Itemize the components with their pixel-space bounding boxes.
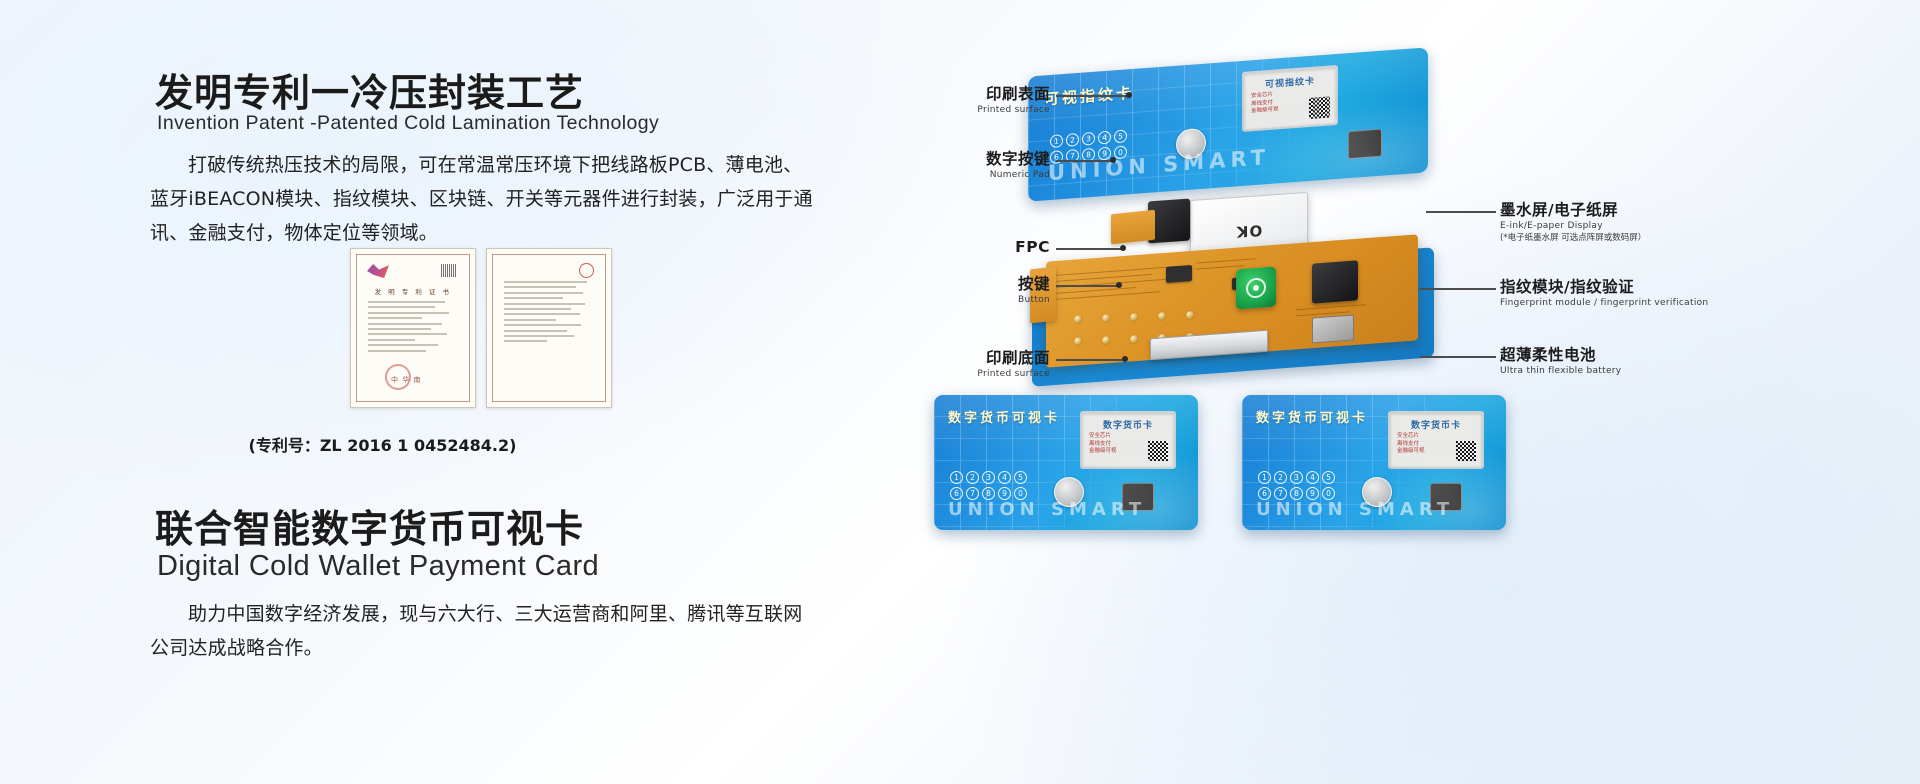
section-2-title-cn: 联合智能数字货币可视卡 bbox=[155, 498, 584, 553]
label-button: 按键 Button bbox=[946, 272, 1050, 305]
leader-line-eink-display bbox=[1426, 211, 1496, 213]
anchor-dot-button bbox=[1116, 282, 1122, 288]
dcl-key-3[interactable]: 3 bbox=[982, 471, 995, 484]
dcl-line-1: 安全芯片 bbox=[1089, 433, 1117, 441]
secure-element-chip bbox=[1312, 314, 1354, 343]
label-fingerprint-module-cn: 指纹模块/指纹验证 bbox=[1500, 275, 1708, 297]
qr-code-icon bbox=[1309, 97, 1330, 120]
certificate-back-text-lines bbox=[504, 281, 594, 346]
leader-line-fingerprint-module bbox=[1420, 288, 1496, 290]
key-3[interactable]: 3 bbox=[1082, 132, 1095, 146]
label-printed-surface-bottom-en: Printed surface bbox=[924, 369, 1050, 379]
dcl-key-0[interactable]: 0 bbox=[1014, 487, 1027, 500]
label-fpc-cn: FPC bbox=[946, 238, 1050, 256]
label-printed-surface-bottom: 印刷底面 Printed surface bbox=[924, 346, 1050, 379]
dcl-key-2[interactable]: 2 bbox=[966, 471, 979, 484]
label-printed-surface-bottom-cn: 印刷底面 bbox=[924, 346, 1050, 368]
dcr-key-8[interactable]: 8 bbox=[1290, 487, 1303, 500]
card-ok-button[interactable] bbox=[1176, 128, 1206, 160]
label-flexible-battery: 超薄柔性电池 Ultra thin flexible battery bbox=[1500, 343, 1621, 376]
dcl-key-6[interactable]: 6 bbox=[950, 487, 963, 500]
certificate-title: 发 明 专 利 证 书 bbox=[357, 286, 469, 296]
label-numeric-pad: 数字按键 Numeric Pad bbox=[940, 147, 1050, 180]
card-brand-bottom: UNION SMART bbox=[1048, 145, 1270, 185]
digital-card-right-brand-bottom: UNION SMART bbox=[1256, 499, 1454, 520]
key-4[interactable]: 4 bbox=[1098, 131, 1111, 145]
key-1[interactable]: 1 bbox=[1050, 134, 1063, 148]
label-fingerprint-module: 指纹模块/指纹验证 Fingerprint module / fingerpri… bbox=[1500, 275, 1708, 308]
digital-card-left: 数字货币可视卡 数字货币卡 安全芯片 离线支付 金融级可视 1 2 3 4 5 … bbox=[934, 395, 1198, 530]
digital-card-left-keypad: 1 2 3 4 5 6 7 8 9 0 bbox=[950, 471, 1027, 500]
eink-module-text: OK bbox=[1236, 221, 1262, 241]
section-2-body: 助力中国数字经济发展，现与六大行、三大运营商和阿里、腾讯等互联网公司达成战略合作… bbox=[150, 597, 815, 665]
label-numeric-pad-cn: 数字按键 bbox=[940, 147, 1050, 169]
screen-line-1: 安全芯片 bbox=[1251, 91, 1279, 101]
dcr-key-5[interactable]: 5 bbox=[1322, 471, 1335, 484]
dcl-key-7[interactable]: 7 bbox=[966, 487, 979, 500]
dcr-line-1: 安全芯片 bbox=[1397, 433, 1425, 441]
dcr-key-1[interactable]: 1 bbox=[1258, 471, 1271, 484]
certificate-back-border bbox=[492, 254, 606, 402]
certificate-front-border: 发 明 专 利 证 书 中 华 南 bbox=[356, 254, 470, 402]
card-fingerprint-sensor[interactable] bbox=[1348, 129, 1382, 159]
barcode-icon bbox=[441, 264, 457, 277]
dcr-line-2: 离线支付 bbox=[1397, 441, 1425, 449]
leader-line-flexible-battery bbox=[1420, 356, 1496, 358]
dcr-key-9[interactable]: 9 bbox=[1306, 487, 1319, 500]
certificate-stamp-text: 中 华 南 bbox=[391, 375, 421, 385]
anchor-dot-printed-surface-bottom bbox=[1122, 356, 1128, 362]
section-1-title-cn: 发明专利一冷压封装工艺 bbox=[155, 62, 584, 117]
digital-card-left-screen-lines: 安全芯片 离线支付 金融级可视 bbox=[1089, 433, 1117, 456]
dcl-key-5[interactable]: 5 bbox=[1014, 471, 1027, 484]
anchor-dot-fpc bbox=[1120, 245, 1126, 251]
dcl-key-4[interactable]: 4 bbox=[998, 471, 1011, 484]
fingerprint-module-chip bbox=[1312, 260, 1358, 303]
label-eink-display-cn: 墨水屏/电子纸屏 bbox=[1500, 198, 1646, 220]
leader-line-fpc bbox=[1056, 248, 1122, 250]
card-eink-screen: 可视指纹卡 安全芯片 离线支付 金融级可视 bbox=[1242, 65, 1338, 132]
patent-office-logo-icon bbox=[367, 264, 389, 278]
leader-line-printed-surface-bottom bbox=[1056, 359, 1124, 361]
digital-card-right-screen-lines: 安全芯片 离线支付 金融级可视 bbox=[1397, 433, 1425, 456]
eink-fpc-connector bbox=[1111, 210, 1155, 245]
patent-number: (专利号：ZL 2016 1 0452484.2) bbox=[150, 432, 615, 456]
digital-card-left-ok-button[interactable] bbox=[1054, 477, 1084, 507]
screen-brand-text: 可视指纹卡 bbox=[1244, 72, 1336, 92]
leader-line-button bbox=[1056, 285, 1118, 287]
key-0[interactable]: 0 bbox=[1114, 145, 1127, 159]
circuit-pattern-decoration-right bbox=[1242, 395, 1506, 530]
label-button-cn: 按键 bbox=[946, 272, 1050, 294]
label-printed-surface-top-en: Printed surface bbox=[940, 105, 1050, 115]
section-2-title-en: Digital Cold Wallet Payment Card bbox=[157, 550, 599, 583]
label-flexible-battery-cn: 超薄柔性电池 bbox=[1500, 343, 1621, 365]
key-9[interactable]: 9 bbox=[1098, 147, 1111, 161]
label-flexible-battery-en: Ultra thin flexible battery bbox=[1500, 366, 1621, 376]
digital-card-right-brand: 数字货币可视卡 bbox=[1256, 407, 1368, 426]
digital-card-right-screen: 数字货币卡 安全芯片 离线支付 金融级可视 bbox=[1388, 411, 1484, 469]
dcl-key-9[interactable]: 9 bbox=[998, 487, 1011, 500]
digital-card-left-screen-brand: 数字货币卡 bbox=[1082, 418, 1174, 431]
screen-line-2: 离线支付 bbox=[1251, 99, 1279, 109]
digital-card-right-keypad: 1 2 3 4 5 6 7 8 9 0 bbox=[1258, 471, 1335, 500]
dcl-key-8[interactable]: 8 bbox=[982, 487, 995, 500]
label-eink-display: 墨水屏/电子纸屏 E-ink/E-paper Display (*电子纸墨水屏 … bbox=[1500, 198, 1646, 243]
dcr-key-7[interactable]: 7 bbox=[1274, 487, 1287, 500]
dcr-key-0[interactable]: 0 bbox=[1322, 487, 1335, 500]
left-content-column: 发明专利一冷压封装工艺 Invention Patent -Patented C… bbox=[0, 0, 880, 784]
dcl-line-3: 金融级可视 bbox=[1089, 448, 1117, 456]
label-printed-surface-top: 印刷表面 Printed surface bbox=[940, 82, 1050, 115]
dcl-key-1[interactable]: 1 bbox=[950, 471, 963, 484]
digital-card-left-qr-icon bbox=[1148, 441, 1168, 461]
nfc-antenna-module bbox=[1236, 267, 1276, 310]
anchor-dot-printed-surface-top bbox=[1126, 92, 1132, 98]
label-fpc: FPC bbox=[946, 238, 1050, 256]
patent-certificate-images: 发 明 专 利 证 书 中 华 南 bbox=[350, 248, 612, 408]
leader-line-printed-surface-top bbox=[1056, 95, 1128, 97]
label-numeric-pad-en: Numeric Pad bbox=[940, 170, 1050, 180]
certificate-back bbox=[486, 248, 612, 408]
key-6[interactable]: 6 bbox=[1050, 150, 1063, 164]
screen-feature-lines: 安全芯片 离线支付 金融级可视 bbox=[1251, 91, 1279, 116]
round-seal-icon bbox=[579, 263, 594, 278]
label-fingerprint-module-en: Fingerprint module / fingerprint verific… bbox=[1500, 298, 1708, 308]
digital-card-left-fp-sensor[interactable] bbox=[1122, 483, 1154, 511]
digital-card-right-screen-brand: 数字货币卡 bbox=[1390, 418, 1482, 431]
certificate-text-lines bbox=[368, 301, 458, 355]
label-button-en: Button bbox=[946, 295, 1050, 305]
digital-card-right-qr-icon bbox=[1456, 441, 1476, 461]
product-exploded-diagram: 可视指纹卡 可视指纹卡 安全芯片 离线支付 金融级可视 1 2 3 4 5 6 … bbox=[880, 0, 1920, 784]
section-1-title-en: Invention Patent -Patented Cold Laminati… bbox=[157, 112, 659, 135]
digital-card-right-ok-button[interactable] bbox=[1362, 477, 1392, 507]
digital-card-right: 数字货币可视卡 数字货币卡 安全芯片 离线支付 金融级可视 1 2 3 4 5 … bbox=[1242, 395, 1506, 530]
circuit-pattern-decoration bbox=[1028, 47, 1428, 201]
leader-line-numeric-pad bbox=[1056, 160, 1112, 162]
anchor-dot-numeric-pad bbox=[1110, 157, 1116, 163]
dcr-key-3[interactable]: 3 bbox=[1290, 471, 1303, 484]
key-2[interactable]: 2 bbox=[1066, 133, 1079, 147]
digital-card-right-fp-sensor[interactable] bbox=[1430, 483, 1462, 511]
label-printed-surface-top-cn: 印刷表面 bbox=[940, 82, 1050, 104]
digital-card-left-brand-bottom: UNION SMART bbox=[948, 499, 1146, 520]
page-root: 发明专利一冷压封装工艺 Invention Patent -Patented C… bbox=[0, 0, 1920, 784]
digital-card-left-screen: 数字货币卡 安全芯片 离线支付 金融级可视 bbox=[1080, 411, 1176, 469]
label-eink-display-en: E-ink/E-paper Display bbox=[1500, 221, 1646, 231]
section-1-body: 打破传统热压技术的局限，可在常温常压环境下把线路板PCB、薄电池、蓝牙iBEAC… bbox=[150, 148, 815, 250]
dcr-key-6[interactable]: 6 bbox=[1258, 487, 1271, 500]
digital-card-left-brand: 数字货币可视卡 bbox=[948, 407, 1060, 426]
dcr-key-2[interactable]: 2 bbox=[1274, 471, 1287, 484]
dcl-line-2: 离线支付 bbox=[1089, 441, 1117, 449]
key-5[interactable]: 5 bbox=[1114, 129, 1127, 143]
dcr-key-4[interactable]: 4 bbox=[1306, 471, 1319, 484]
screen-line-3: 金融级可视 bbox=[1251, 106, 1279, 116]
dcr-line-3: 金融级可视 bbox=[1397, 448, 1425, 456]
label-eink-display-note: (*电子纸墨水屏 可选点阵屏或数码屏） bbox=[1500, 231, 1646, 243]
top-visual-fingerprint-card: 可视指纹卡 可视指纹卡 安全芯片 离线支付 金融级可视 1 2 3 4 5 6 … bbox=[1028, 47, 1428, 201]
circuit-pattern-decoration-left bbox=[934, 395, 1198, 530]
certificate-front: 发 明 专 利 证 书 中 华 南 bbox=[350, 248, 476, 408]
